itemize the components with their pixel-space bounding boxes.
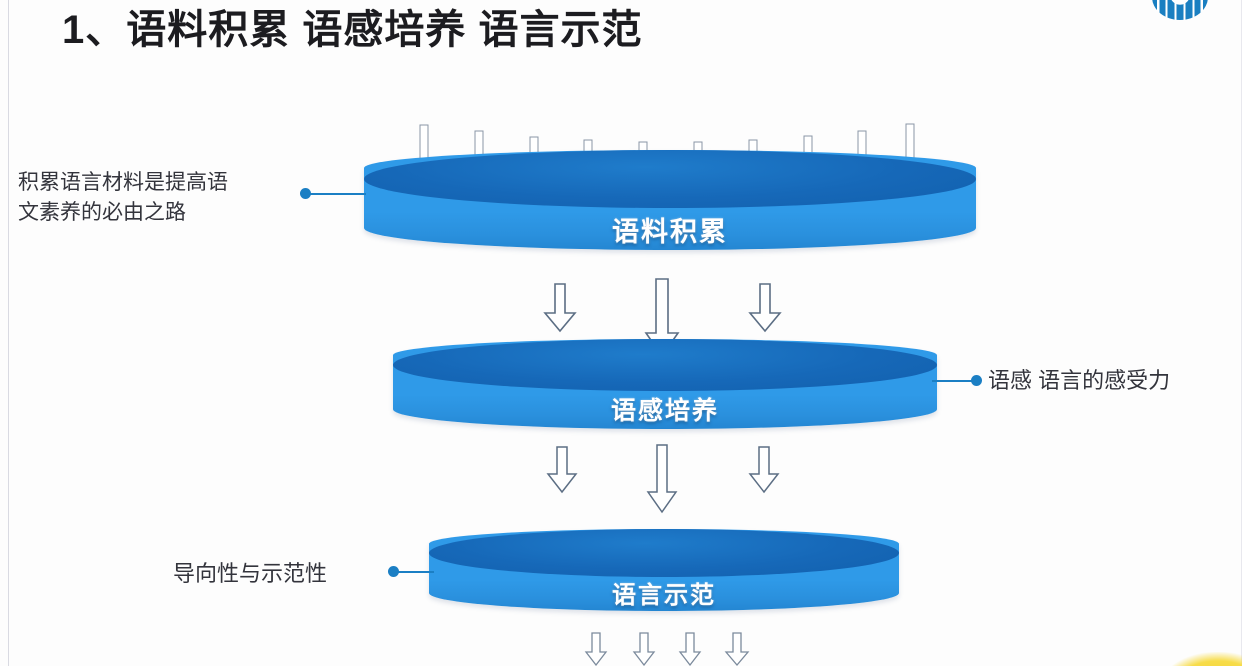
cylinder-top: [429, 529, 899, 577]
slide-canvas: 1、语料积累 语感培养 语言示范 语料积累 积累语言材料是提高语: [0, 0, 1242, 666]
flow-arrow-2-3-left: [546, 446, 578, 494]
stage-callout-3: 导向性与示范性: [173, 558, 388, 589]
cylinder-top: [364, 150, 976, 208]
callout-dot-3: [388, 566, 399, 577]
page-title: 1、语料积累 语感培养 语言示范: [62, 2, 642, 58]
stage-label-1: 语料积累: [364, 210, 976, 249]
callout-connector-1: [304, 193, 366, 195]
stage-label-3: 语言示范: [429, 575, 899, 610]
outflow-arrow-3: [678, 632, 702, 666]
callout-dot-2: [971, 375, 982, 386]
outflow-arrow-2: [632, 632, 656, 666]
outflow-arrow-4: [724, 632, 750, 666]
left-edge-rule: [8, 0, 9, 666]
outflow-arrow-1: [584, 632, 608, 666]
stage-cylinder-1: 语料积累: [364, 150, 976, 250]
flow-arrow-1-2-right: [748, 283, 782, 333]
callout-connector-3: [394, 571, 434, 573]
stage-cylinder-3: 语言示范: [429, 529, 899, 611]
flow-arrow-2-3-right: [748, 446, 780, 494]
yellow-accent-shape: [1158, 652, 1242, 666]
globe-logo-icon: [1152, 0, 1208, 20]
globe-logo-mark: [1152, 0, 1208, 20]
stage-callout-1: 积累语言材料是提高语 文素养的必由之路: [18, 168, 298, 228]
flow-arrow-1-2-left: [543, 283, 577, 333]
cylinder-top: [393, 339, 937, 391]
callout-dot-1: [300, 188, 311, 199]
flow-arrow-2-3-center: [646, 444, 678, 514]
stage-cylinder-2: 语感培养: [393, 339, 937, 429]
stage-label-2: 语感培养: [393, 391, 937, 427]
stage-callout-2: 语感 语言的感受力: [988, 365, 1238, 396]
